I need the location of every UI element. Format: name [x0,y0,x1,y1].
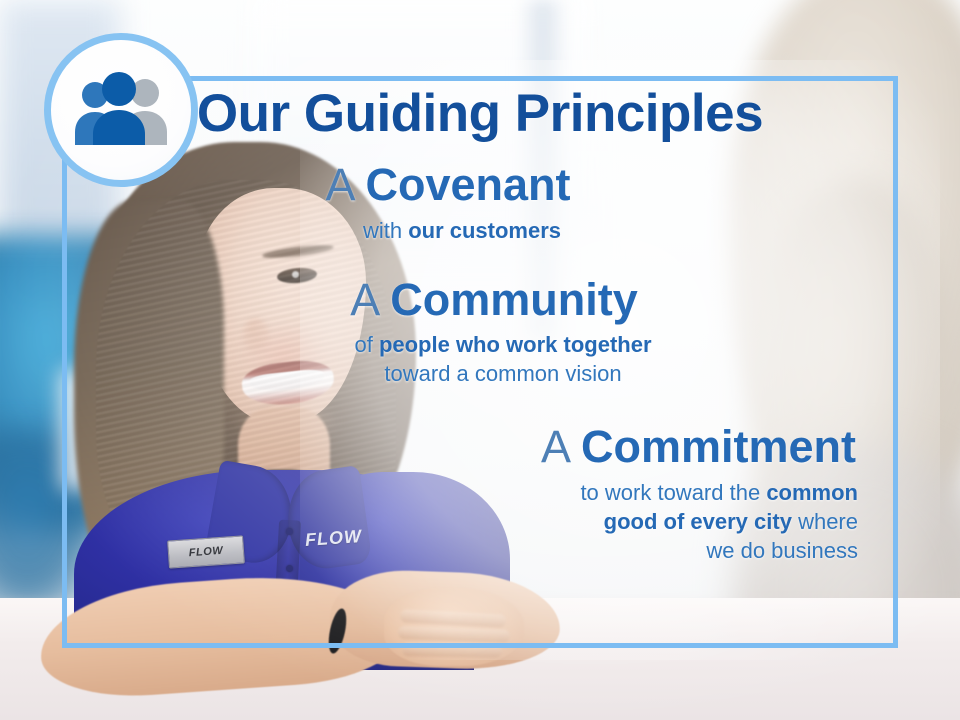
subtitle-line2-emphasis: good of every city [604,509,792,534]
subtitle-lead: with [363,218,408,243]
principles-text-block: Our Guiding Principles A Covenant with o… [90,86,880,565]
principle-covenant: A Covenant with our customers [90,160,880,245]
subtitle-lead: to work toward the [580,480,766,505]
principle-subtitle: to work toward the common good of every … [90,478,880,565]
page-title: Our Guiding Principles [90,86,880,142]
principle-keyword: Covenant [366,159,571,210]
principle-commitment: A Commitment to work toward the common g… [90,422,880,565]
principle-subtitle: of people who work together toward a com… [90,330,880,388]
principle-subtitle: with our customers [90,216,880,245]
principle-community: A Community of people who work together … [90,275,880,389]
principle-article: A [325,159,365,210]
subtitle-line2: toward a common vision [384,361,621,386]
principle-keyword: Commitment [581,421,856,472]
finger [402,643,502,658]
guiding-principles-banner: FLOW FLOW Our Guiding Principles [0,0,960,720]
subtitle-emphasis: people who work together [379,332,652,357]
subtitle-line3: we do business [706,538,858,563]
principle-keyword: Community [390,274,638,325]
shirt-button [286,565,293,572]
principle-title: A Community [90,275,880,325]
principle-article: A [541,421,581,472]
subtitle-line2-tail: where [792,509,858,534]
principle-title: A Covenant [90,160,880,210]
principle-article: A [350,274,390,325]
subtitle-emphasis: common [766,480,858,505]
subtitle-lead: of [354,332,378,357]
principle-title: A Commitment [90,422,880,472]
subtitle-emphasis: our customers [408,218,561,243]
